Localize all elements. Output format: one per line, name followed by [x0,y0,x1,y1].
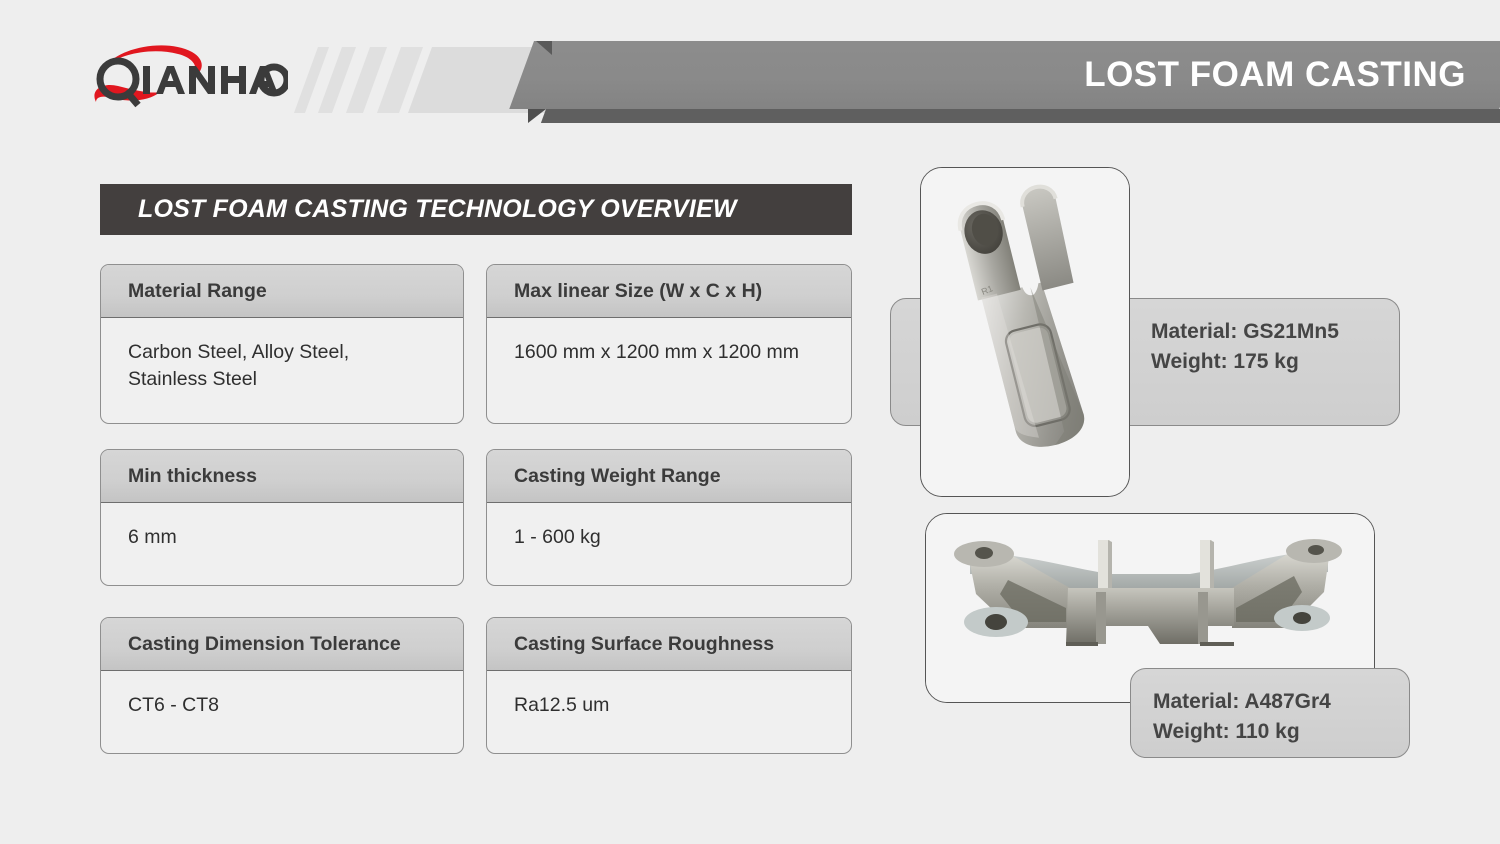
spec-card-value: CT6 - CT8 [128,692,441,719]
clevis-fork-casting-photo: R1 [921,168,1129,496]
spec-card-value: Ra12.5 um [514,692,829,719]
spec-card-header-text: Casting Weight Range [514,465,721,488]
spec-card: Casting Dimension Tolerance CT6 - CT8 [100,617,464,754]
spec-card-body: 6 mm [101,503,463,551]
spec-card-header-text: Casting Dimension Tolerance [128,633,401,656]
spec-card: Casting Surface Roughness Ra12.5 um [486,617,852,754]
spec-card: Casting Weight Range 1 - 600 kg [486,449,852,586]
spec-card: Material Range Carbon Steel, Alloy Steel… [100,264,464,424]
spec-card-value: 1 - 600 kg [514,524,829,551]
slide-root: LOST FOAM CASTING LOST FOAM CASTING TECH… [0,0,1500,844]
q-orbit-icon [88,42,288,114]
spec-card-header-text: Casting Surface Roughness [514,633,774,656]
spec-card: Min thickness 6 mm [100,449,464,586]
spec-card-header-text: Min thickness [128,465,257,488]
spec-card-body: Ra12.5 um [487,671,851,719]
spec-card-header-text: Max linear Size (W x C x H) [514,280,762,303]
section-title-text: LOST FOAM CASTING TECHNOLOGY OVERVIEW [138,195,737,224]
spec-card-body: Carbon Steel, Alloy Steel, Stainless Ste… [101,318,463,393]
logo-wordmark [143,66,287,94]
section-title-bar: LOST FOAM CASTING TECHNOLOGY OVERVIEW [100,184,852,235]
product-weight-text: Weight: 110 kg [1153,717,1409,747]
product-material-text: Material: GS21Mn5 [1151,317,1399,347]
spec-card-header: Material Range [101,265,463,318]
banner-fold-bottom [528,109,546,123]
spec-card-body: CT6 - CT8 [101,671,463,719]
spec-card-value: Carbon Steel, Alloy Steel, Stainless Ste… [128,339,441,393]
spec-card-header-text: Material Range [128,280,267,303]
spec-card-header: Casting Dimension Tolerance [101,618,463,671]
page-header: LOST FOAM CASTING [0,0,1500,150]
product-photo-frame: R1 [920,167,1130,497]
product-label: Material: A487Gr4 Weight: 110 kg [1130,668,1410,758]
spec-card-body: 1600 mm x 1200 mm x 1200 mm [487,318,851,366]
spec-card: Max linear Size (W x C x H) 1600 mm x 12… [486,264,852,424]
banner-shadow [541,109,1500,123]
qianhao-logo [88,42,288,114]
spec-card-body: 1 - 600 kg [487,503,851,551]
spec-card-value: 6 mm [128,524,441,551]
banner-title-text: LOST FOAM CASTING [1084,55,1466,95]
spec-card-header: Casting Weight Range [487,450,851,503]
product-weight-text: Weight: 175 kg [1151,347,1399,377]
spec-card-header: Min thickness [101,450,463,503]
spec-card-header: Max linear Size (W x C x H) [487,265,851,318]
banner-title: LOST FOAM CASTING [534,41,1490,109]
product-material-text: Material: A487Gr4 [1153,687,1409,717]
spec-card-header: Casting Surface Roughness [487,618,851,671]
spec-card-value: 1600 mm x 1200 mm x 1200 mm [514,339,829,366]
